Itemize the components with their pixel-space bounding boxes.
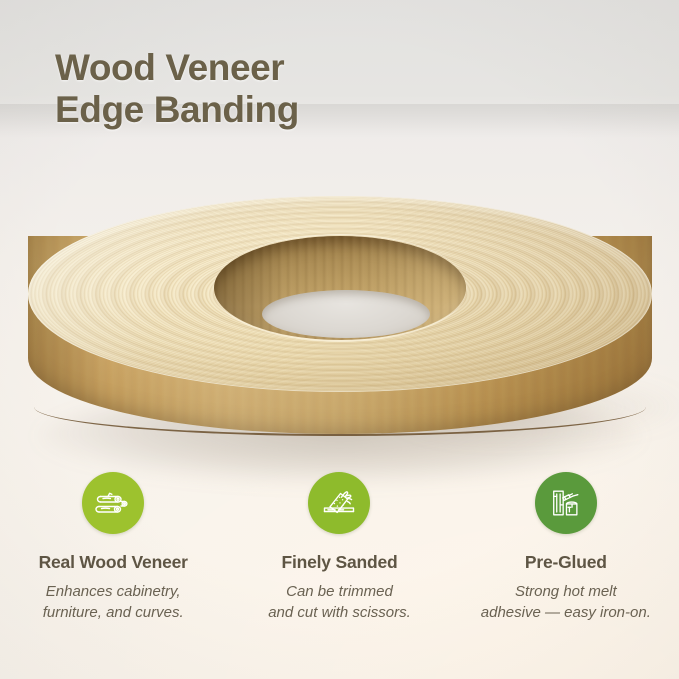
feature-description: Can be trimmed and cut with scissors. <box>232 582 446 623</box>
feature-item-finely-sanded: Finely Sanded Can be trimmed and cut wit… <box>226 472 452 623</box>
glue-brush-panel-icon <box>549 486 583 520</box>
product-image-veneer-roll <box>28 196 652 464</box>
product-infographic: Wood Veneer Edge Banding <box>0 0 679 679</box>
feature-desc-line-1: Strong hot melt <box>459 582 673 603</box>
feature-desc-line-1: Enhances cabinetry, <box>6 582 220 603</box>
feature-description: Strong hot melt adhesive — easy iron-on. <box>459 582 673 623</box>
feature-list: Real Wood Veneer Enhances cabinetry, fur… <box>0 472 679 623</box>
feature-desc-line-2: and cut with scissors. <box>232 603 446 624</box>
feature-title: Pre-Glued <box>459 552 673 573</box>
feature-item-real-wood-veneer: Real Wood Veneer Enhances cabinetry, fur… <box>0 472 226 623</box>
feature-badge-1 <box>82 472 144 534</box>
feature-desc-line-2: adhesive — easy iron-on. <box>459 603 673 624</box>
hand-sanding-icon <box>321 485 357 521</box>
page-title: Wood Veneer Edge Banding <box>55 47 299 131</box>
title-line-2: Edge Banding <box>55 89 299 131</box>
feature-item-pre-glued: Pre-Glued Strong hot melt adhesive — eas… <box>453 472 679 623</box>
stacked-logs-icon <box>95 485 131 521</box>
feature-title: Real Wood Veneer <box>6 552 220 573</box>
feature-desc-line-1: Can be trimmed <box>232 582 446 603</box>
title-line-1: Wood Veneer <box>55 47 284 88</box>
feature-description: Enhances cabinetry, furniture, and curve… <box>6 582 220 623</box>
feature-desc-line-2: furniture, and curves. <box>6 603 220 624</box>
core-rim-highlight <box>212 234 468 342</box>
feature-title: Finely Sanded <box>232 552 446 573</box>
feature-badge-2 <box>308 472 370 534</box>
feature-badge-3 <box>535 472 597 534</box>
